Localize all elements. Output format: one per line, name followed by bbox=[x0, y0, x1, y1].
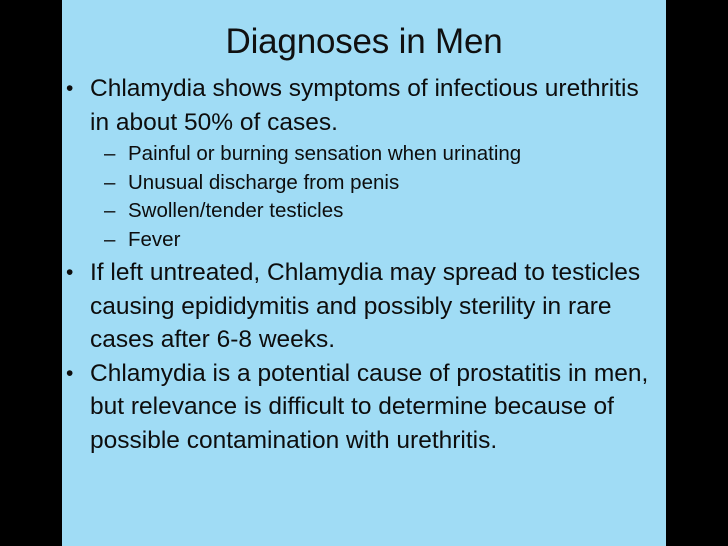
slide-viewer: Diagnoses in Men • Chlamydia shows sympt… bbox=[0, 0, 728, 546]
list-item-text: Painful or burning sensation when urinat… bbox=[128, 140, 662, 169]
dash-icon: – bbox=[104, 169, 128, 198]
list-item: • If left untreated, Chlamydia may sprea… bbox=[66, 256, 662, 357]
dash-icon: – bbox=[104, 197, 128, 226]
letterbox-bar-right bbox=[666, 0, 728, 546]
list-item-text: Swollen/tender testicles bbox=[128, 197, 662, 226]
list-item: – Unusual discharge from penis bbox=[66, 169, 662, 198]
bullet-dot-icon: • bbox=[66, 72, 90, 106]
list-item: – Painful or burning sensation when urin… bbox=[66, 140, 662, 169]
dash-icon: – bbox=[104, 140, 128, 169]
letterbox-bar-left bbox=[0, 0, 62, 546]
sub-list: – Painful or burning sensation when urin… bbox=[66, 140, 662, 254]
presentation-slide: Diagnoses in Men • Chlamydia shows sympt… bbox=[62, 0, 666, 546]
list-item-text: Chlamydia is a potential cause of prosta… bbox=[90, 357, 662, 458]
bullet-dot-icon: • bbox=[66, 357, 90, 391]
list-item: • Chlamydia shows symptoms of infectious… bbox=[66, 72, 662, 139]
list-item-text: If left untreated, Chlamydia may spread … bbox=[90, 256, 662, 357]
list-item: – Swollen/tender testicles bbox=[66, 197, 662, 226]
list-item: – Fever bbox=[66, 226, 662, 255]
bullet-dot-icon: • bbox=[66, 256, 90, 290]
list-item-text: Fever bbox=[128, 226, 662, 255]
list-item: • Chlamydia is a potential cause of pros… bbox=[66, 357, 662, 458]
slide-body: • Chlamydia shows symptoms of infectious… bbox=[62, 72, 666, 457]
dash-icon: – bbox=[104, 226, 128, 255]
list-item-text: Unusual discharge from penis bbox=[128, 169, 662, 198]
page-title: Diagnoses in Men bbox=[62, 0, 666, 62]
list-item-text: Chlamydia shows symptoms of infectious u… bbox=[90, 72, 662, 139]
